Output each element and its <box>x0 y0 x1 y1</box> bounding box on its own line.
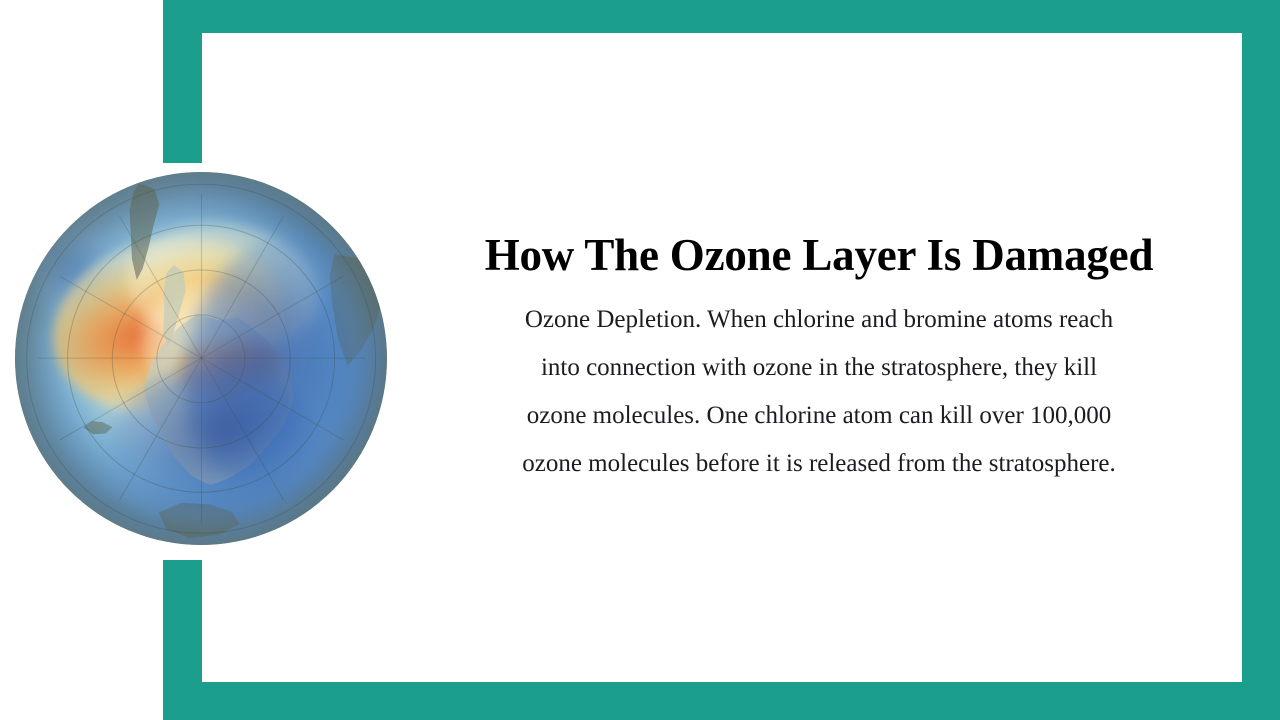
body-line: into connection with ozone in the strato… <box>438 344 1200 392</box>
slide-title: How The Ozone Layer Is Damaged <box>426 228 1212 282</box>
body-line: Ozone Depletion. When chlorine and bromi… <box>438 296 1200 344</box>
body-line: ozone molecules. One chlorine atom can k… <box>438 392 1200 440</box>
globe-graticule <box>15 172 387 545</box>
text-content-block: How The Ozone Layer Is Damaged Ozone Dep… <box>426 228 1212 488</box>
ozone-globe-image <box>15 172 387 545</box>
globe-sphere <box>15 172 387 545</box>
body-line: ozone molecules before it is released fr… <box>438 440 1200 488</box>
slide-body-text: Ozone Depletion. When chlorine and bromi… <box>438 296 1200 488</box>
slide-canvas: How The Ozone Layer Is Damaged Ozone Dep… <box>0 0 1280 720</box>
